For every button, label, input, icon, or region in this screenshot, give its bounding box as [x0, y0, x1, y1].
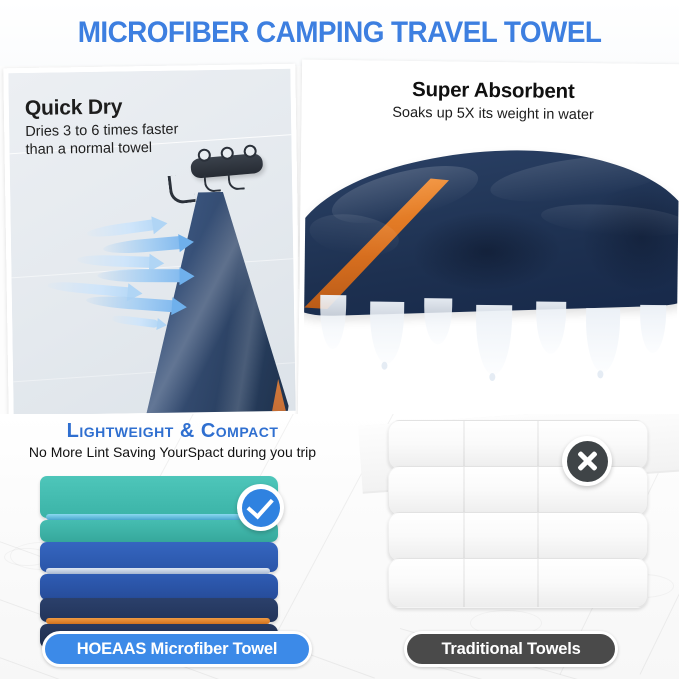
page-title-bar: MICROFIBER CAMPING TRAVEL TOWEL — [0, 0, 679, 66]
x-circle-icon — [562, 436, 612, 486]
infographic-root: MICROFIBER CAMPING TRAVEL TOWEL Quick Dr… — [0, 0, 679, 679]
quick-dry-title: Quick Dry — [25, 95, 178, 121]
super-absorbent-title: Super Absorbent — [307, 77, 679, 106]
page-title: MICROFIBER CAMPING TRAVEL TOWEL — [78, 16, 602, 50]
list-item — [388, 466, 648, 516]
panel-super-absorbent: Super Absorbent Soaks up 5X its weight i… — [298, 60, 679, 423]
quick-dry-subtitle-line1: Dries 3 to 6 times faster — [25, 121, 178, 142]
water-drip-icon — [307, 65, 679, 70]
quick-dry-subtitle-line2: than a normal towel — [25, 139, 178, 160]
lightweight-subtitle: No More Lint Saving YourSpact during you… — [0, 444, 345, 460]
list-item — [388, 558, 648, 608]
list-item — [40, 574, 278, 600]
lightweight-title: Lightweight & Compact — [0, 420, 345, 443]
traditional-towels-label: Traditional Towels — [404, 631, 618, 667]
air-flow-arrows-icon — [37, 220, 199, 342]
traditional-towel-stack — [388, 420, 650, 620]
super-absorbent-subtitle: Soaks up 5X its weight in water — [306, 104, 679, 125]
check-circle-icon — [237, 484, 284, 531]
lightweight-heading-group: Lightweight & Compact No More Lint Savin… — [0, 420, 345, 460]
panel-quick-dry: Quick Dry Dries 3 to 6 times faster than… — [3, 64, 300, 421]
wet-towel-image — [298, 145, 679, 317]
list-item — [388, 512, 648, 562]
quick-dry-heading-group: Quick Dry Dries 3 to 6 times faster than… — [25, 95, 179, 160]
super-absorbent-heading-group: Super Absorbent Soaks up 5X its weight i… — [306, 77, 679, 125]
hoeaas-microfiber-towel-label: HOEAAS Microfiber Towel — [42, 631, 312, 667]
